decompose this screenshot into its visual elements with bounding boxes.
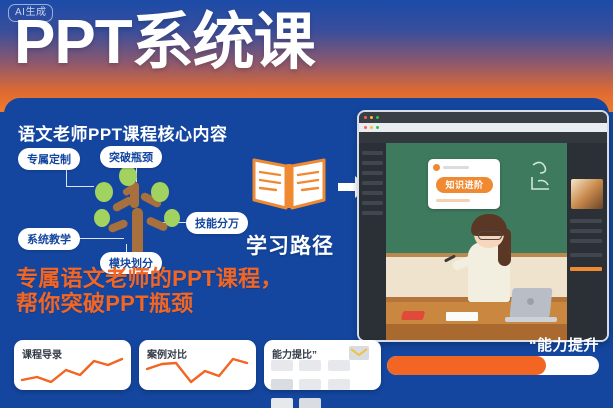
grid-block xyxy=(328,379,350,390)
sparkline-chart xyxy=(145,356,249,384)
tool-row xyxy=(362,171,383,175)
tab-dot-2 xyxy=(370,126,373,129)
layer-row-active xyxy=(570,267,602,271)
card-case-comparison[interactable]: 案例对比 xyxy=(139,340,256,390)
layer-row xyxy=(570,253,602,257)
sparkline-chart xyxy=(20,356,124,384)
promo-headline-line1: 专属语文老师的PPT课程， xyxy=(16,266,283,291)
layer-row xyxy=(570,219,602,223)
grid-block xyxy=(299,360,321,371)
slide-badge: 知识进阶 xyxy=(436,177,493,193)
learning-path-label: 学习路径 xyxy=(246,230,334,260)
tree-label-break-bottleneck[interactable]: 突破瓶颈 xyxy=(100,146,162,168)
tree-icon xyxy=(78,166,198,256)
progress-bar-fill xyxy=(387,356,546,375)
block-grid xyxy=(271,360,375,408)
window-minimize-dot xyxy=(370,116,373,119)
card-course-index[interactable]: 课程导录 xyxy=(14,340,131,390)
card-ability-comparison[interactable]: 能力提比” xyxy=(264,340,381,390)
window-maximize-dot xyxy=(376,116,379,119)
progress-label: “能力提升 xyxy=(529,334,599,355)
content-panel: 语文老师PPT课程核心内容 xyxy=(4,98,609,404)
slide-line xyxy=(443,166,469,169)
laptop-base xyxy=(505,317,557,322)
paper-prop xyxy=(446,312,478,321)
red-book-prop xyxy=(401,311,425,320)
window-close-dot xyxy=(364,116,367,119)
envelope-icon xyxy=(349,346,369,360)
editor-urlbar xyxy=(359,123,607,132)
laptop-logo-icon xyxy=(527,298,534,305)
progress-bar-track[interactable] xyxy=(387,356,599,375)
page-title: PPT系统课 xyxy=(14,4,315,82)
editor-canvas: 知识进阶 xyxy=(386,143,567,340)
layer-row xyxy=(570,229,602,233)
tree-label-exclusive-custom[interactable]: 专属定制 xyxy=(18,148,80,170)
tool-row xyxy=(362,211,383,215)
grid-block xyxy=(271,379,293,390)
editor-left-toolbar xyxy=(359,143,386,340)
knowledge-tree-diagram: 专属定制 突破瓶颈 技能分万 系统教学 模块划分 xyxy=(8,144,248,264)
tree-label-skill-breakdown[interactable]: 技能分万 xyxy=(186,212,248,234)
chalk-drawing-icon xyxy=(529,157,555,191)
tool-row xyxy=(362,151,383,155)
grid-block xyxy=(328,360,350,371)
tool-row xyxy=(362,191,383,195)
promo-headline: 专属语文老师的PPT课程， 帮你突破PPT瓶颈 xyxy=(16,266,283,316)
tool-row xyxy=(362,181,383,185)
editor-toolbar xyxy=(359,132,607,143)
tree-label-systematic-teaching[interactable]: 系统教学 xyxy=(18,228,80,250)
tab-dot-1 xyxy=(364,126,367,129)
open-book-icon xyxy=(250,150,328,212)
editor-titlebar xyxy=(359,112,607,123)
teacher-glasses-icon xyxy=(478,231,502,240)
grid-block xyxy=(299,379,321,390)
layer-row xyxy=(570,239,602,243)
slide-logo-icon xyxy=(433,164,440,171)
grid-block xyxy=(271,398,293,408)
header-band: AI生成 PPT系统课 xyxy=(0,0,613,112)
tab-dot-3 xyxy=(376,126,379,129)
slide-line xyxy=(436,199,470,202)
tool-row xyxy=(362,201,383,205)
grid-block xyxy=(299,398,321,408)
promo-headline-line2: 帮你突破PPT瓶颈 xyxy=(16,291,283,316)
ai-generated-badge: AI生成 xyxy=(8,4,53,22)
grid-block xyxy=(271,360,293,371)
poster-root: AI生成 PPT系统课 语文老师PPT课程核心内容 xyxy=(0,0,613,408)
editor-right-panel xyxy=(567,143,607,340)
classroom-illustration: 知识进阶 xyxy=(357,110,609,342)
slide-preview: 知识进阶 xyxy=(428,159,500,209)
card-title: 能力提比” xyxy=(272,346,317,361)
tool-row xyxy=(362,161,383,165)
color-picker-swatch xyxy=(571,179,603,209)
section-title: 语文老师PPT课程核心内容 xyxy=(18,120,228,145)
